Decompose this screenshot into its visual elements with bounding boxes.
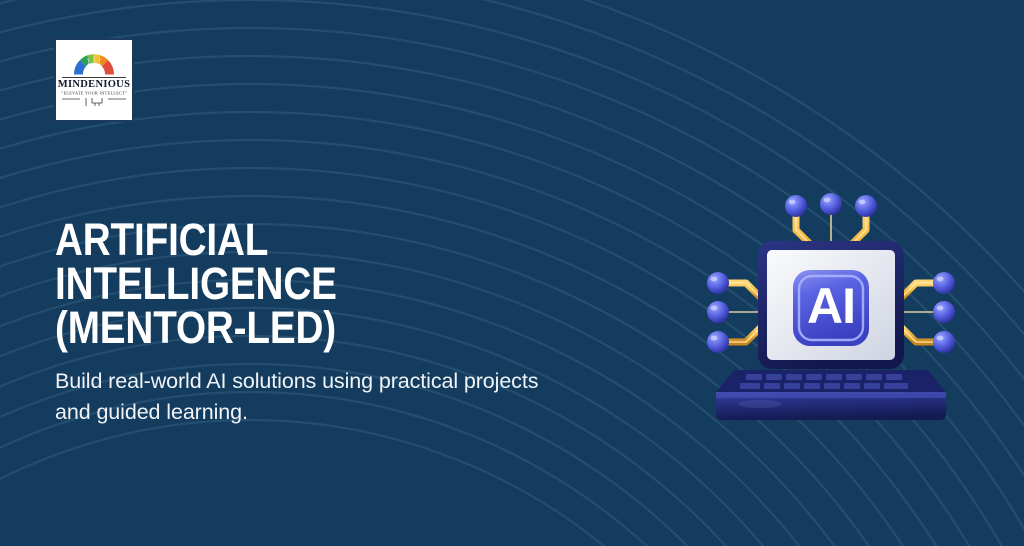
brain-dome-icon [71, 52, 117, 76]
logo-divider-top [62, 77, 126, 78]
logo-stand-icon [62, 97, 126, 109]
brand-logo[interactable]: MINDENIOUS "ELEVATE YOUR INTELLECT" [54, 38, 134, 122]
logo-wordmark: MINDENIOUS [58, 80, 130, 91]
laptop-keyboard [716, 370, 946, 392]
ai-laptop-illustration: AI [700, 186, 962, 428]
laptop-base [716, 392, 946, 420]
hero-copy: ARTIFICIAL INTELLIGENCE (MENTOR-LED) Bui… [55, 218, 595, 429]
ai-course-banner: MINDENIOUS "ELEVATE YOUR INTELLECT" ARTI… [0, 0, 1024, 546]
ai-chip: AI [793, 270, 869, 346]
svg-text:AI: AI [807, 278, 855, 334]
hero-subtitle: Build real-world AI solutions using prac… [55, 366, 555, 428]
logo-tagline: "ELEVATE YOUR INTELLECT" [61, 90, 127, 95]
page-title: ARTIFICIAL INTELLIGENCE (MENTOR-LED) [55, 218, 519, 350]
